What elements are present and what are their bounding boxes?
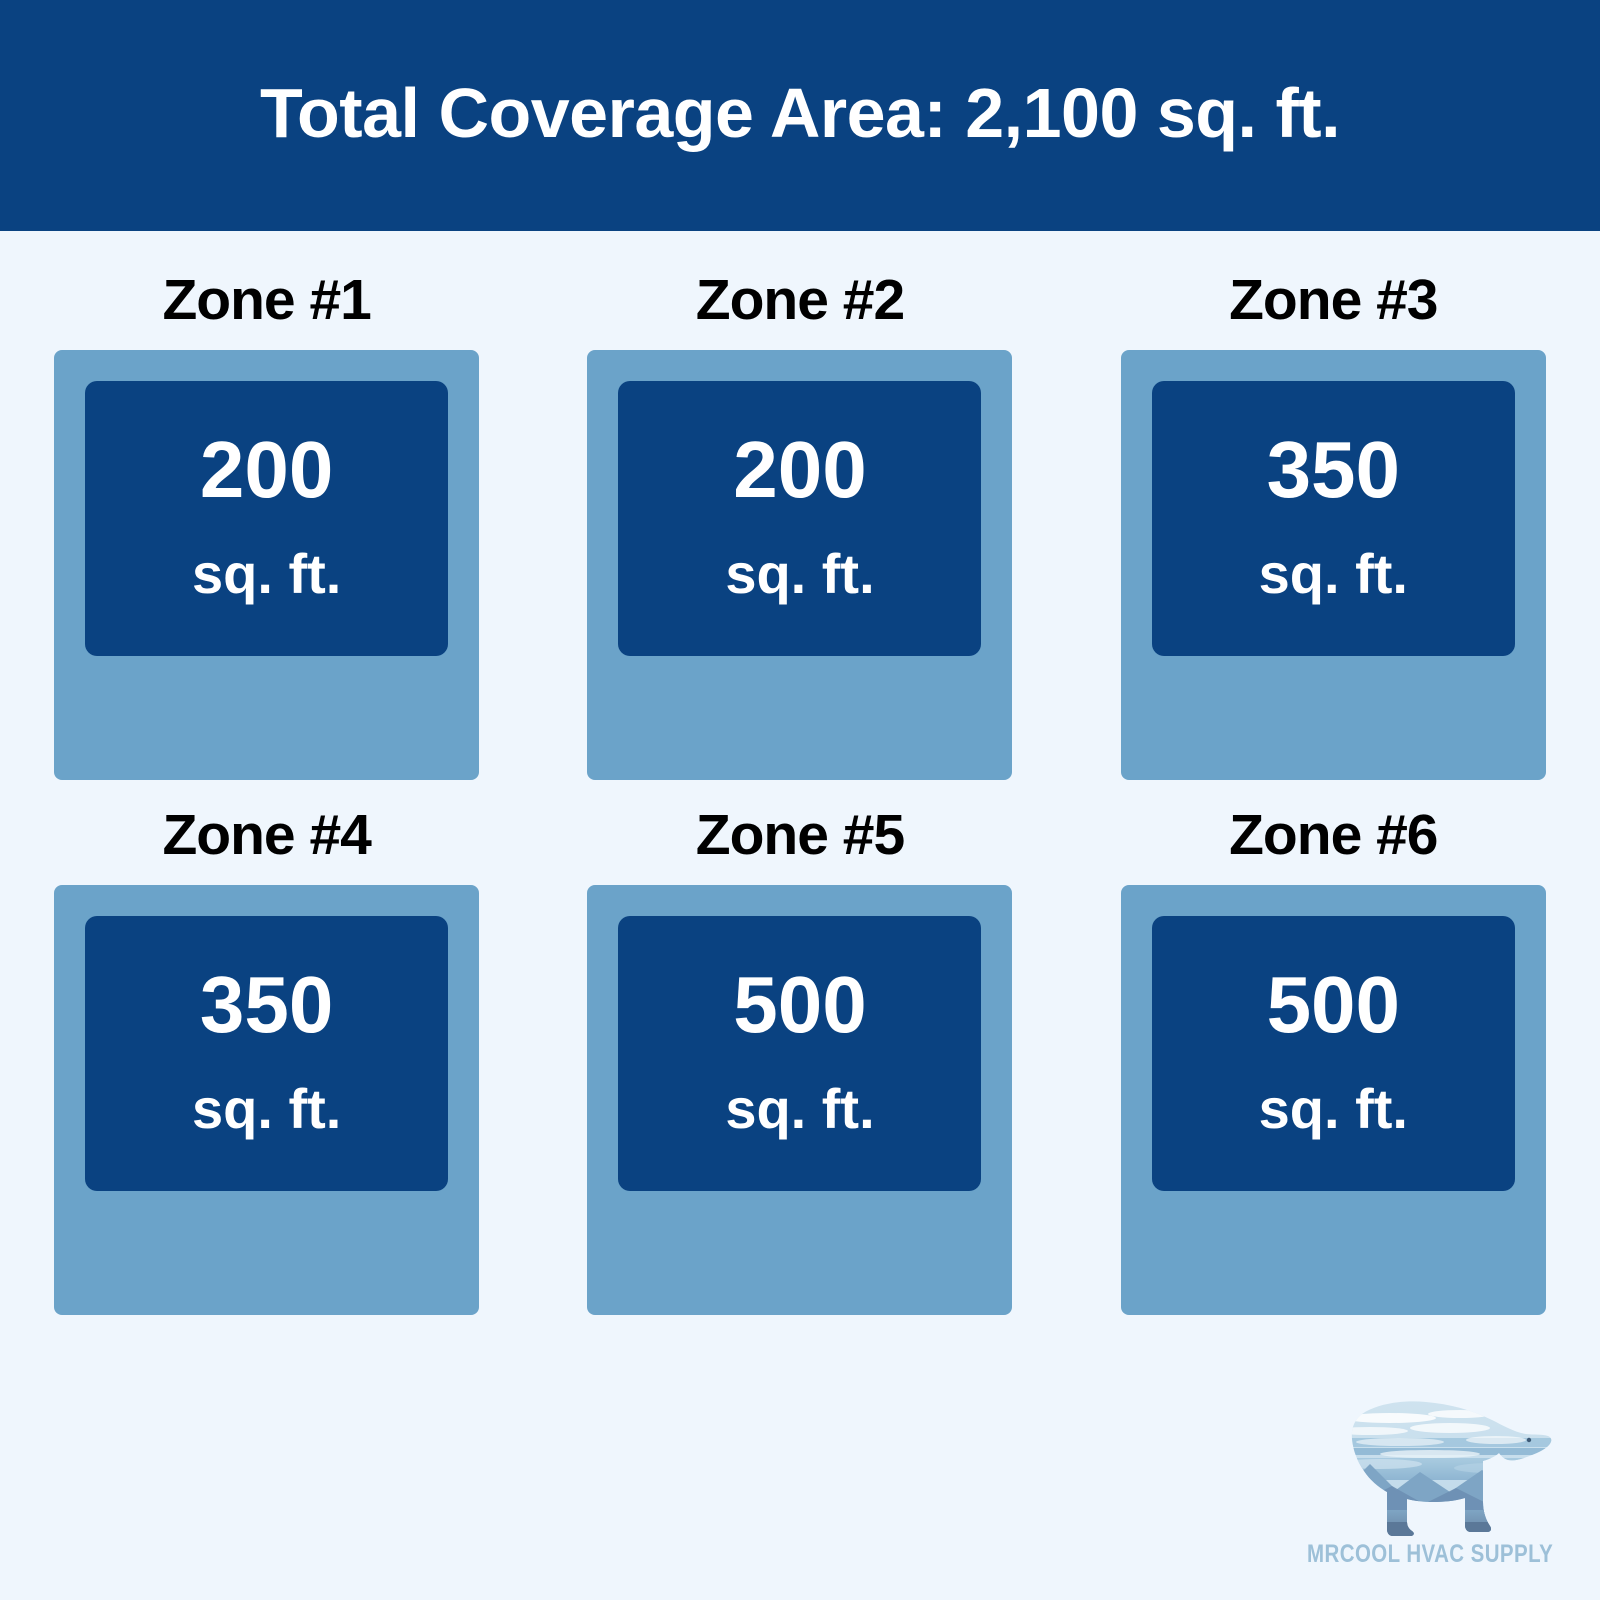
zone-card-5[interactable]: 500 sq. ft.	[587, 885, 1012, 1315]
zone-value-6: 500	[1267, 965, 1400, 1045]
zone-area-box-1: 200 sq. ft.	[85, 381, 448, 656]
zone-label-2: Zone #2	[696, 250, 904, 350]
zone-cell-2: Zone #2 200 sq. ft.	[533, 231, 1066, 780]
logo-wordmark: MRCOOL HVAC SUPPLY	[1307, 1540, 1553, 1569]
zone-unit-3: sq. ft.	[1259, 546, 1408, 602]
zone-card-2[interactable]: 200 sq. ft.	[587, 350, 1012, 780]
zone-area-box-3: 350 sq. ft.	[1152, 381, 1515, 656]
zone-value-4: 350	[200, 965, 333, 1045]
page-title: Total Coverage Area: 2,100 sq. ft.	[260, 78, 1340, 154]
zone-unit-4: sq. ft.	[192, 1081, 341, 1137]
zone-value-1: 200	[200, 430, 333, 510]
zones-grid: Zone #1 200 sq. ft. Zone #2 200 sq. ft. …	[0, 231, 1600, 1315]
zone-label-1: Zone #1	[162, 250, 370, 350]
zone-cell-4: Zone #4 350 sq. ft.	[0, 780, 533, 1315]
zone-cell-6: Zone #6 500 sq. ft.	[1067, 780, 1600, 1315]
zone-label-3: Zone #3	[1229, 250, 1437, 350]
zone-cell-3: Zone #3 350 sq. ft.	[1067, 231, 1600, 780]
zone-card-4[interactable]: 350 sq. ft.	[54, 885, 479, 1315]
zone-unit-6: sq. ft.	[1259, 1081, 1408, 1137]
header-banner: Total Coverage Area: 2,100 sq. ft.	[0, 0, 1600, 231]
zone-cell-1: Zone #1 200 sq. ft.	[0, 231, 533, 780]
zone-cell-5: Zone #5 500 sq. ft.	[533, 780, 1066, 1315]
zone-area-box-4: 350 sq. ft.	[85, 916, 448, 1191]
zone-label-5: Zone #5	[696, 785, 904, 885]
zone-area-box-5: 500 sq. ft.	[618, 916, 981, 1191]
zone-area-box-2: 200 sq. ft.	[618, 381, 981, 656]
zone-area-box-6: 500 sq. ft.	[1152, 916, 1515, 1191]
brand-logo: MRCOOL HVAC SUPPLY	[1270, 1398, 1590, 1593]
zone-value-5: 500	[733, 965, 866, 1045]
zone-card-6[interactable]: 500 sq. ft.	[1121, 885, 1546, 1315]
zone-unit-5: sq. ft.	[725, 1081, 874, 1137]
zone-card-1[interactable]: 200 sq. ft.	[54, 350, 479, 780]
zone-unit-2: sq. ft.	[725, 546, 874, 602]
zone-value-2: 200	[733, 430, 866, 510]
zone-label-6: Zone #6	[1229, 785, 1437, 885]
polar-bear-icon	[1300, 1398, 1560, 1538]
zone-card-3[interactable]: 350 sq. ft.	[1121, 350, 1546, 780]
zone-unit-1: sq. ft.	[192, 546, 341, 602]
zone-label-4: Zone #4	[162, 785, 370, 885]
zone-value-3: 350	[1267, 430, 1400, 510]
